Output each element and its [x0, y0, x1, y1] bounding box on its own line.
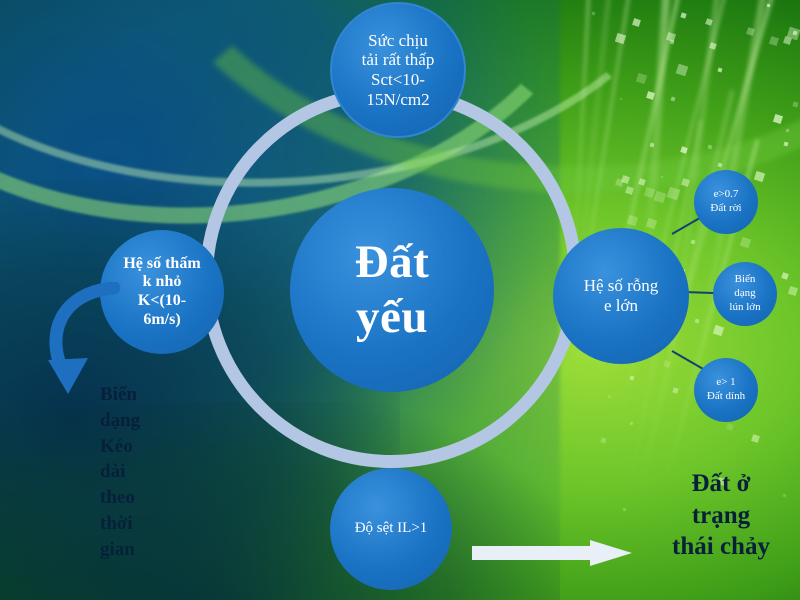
caption-right: Đất ởtrạngthái chảy — [646, 468, 796, 563]
node-center-label: Đấtyếu — [349, 235, 436, 344]
node-void-ratio-label: Hệ số rỗnge lớn — [578, 276, 665, 315]
right-arrow-icon — [472, 540, 632, 566]
node-satellite-granular-soil[interactable]: e>0.7Đất rời — [694, 170, 758, 234]
node-liquidity-index[interactable]: Độ sệt IL>1 — [330, 468, 452, 590]
node-bearing-capacity-label: Sức chịutải rất thấpSct<10-15N/cm2 — [356, 31, 441, 110]
slide-canvas: Đấtyếu Sức chịutải rất thấpSct<10-15N/cm… — [0, 0, 800, 600]
node-bearing-capacity[interactable]: Sức chịutải rất thấpSct<10-15N/cm2 — [330, 2, 466, 138]
node-void-ratio[interactable]: Hệ số rỗnge lớn — [553, 228, 689, 364]
node-satellite-granular-soil-label: e>0.7Đất rời — [704, 188, 747, 216]
node-satellite-large-settlement[interactable]: Biếndạnglún lớn — [713, 262, 777, 326]
node-center[interactable]: Đấtyếu — [290, 188, 494, 392]
node-satellite-cohesive-soil-label: e> 1Đất dính — [701, 376, 751, 404]
node-satellite-cohesive-soil[interactable]: e> 1Đất dính — [694, 358, 758, 422]
node-satellite-large-settlement-label: Biếndạnglún lớn — [723, 273, 766, 314]
caption-left: BiếndạngKéodàitheothờigian — [100, 382, 192, 563]
node-liquidity-index-label: Độ sệt IL>1 — [349, 520, 434, 537]
